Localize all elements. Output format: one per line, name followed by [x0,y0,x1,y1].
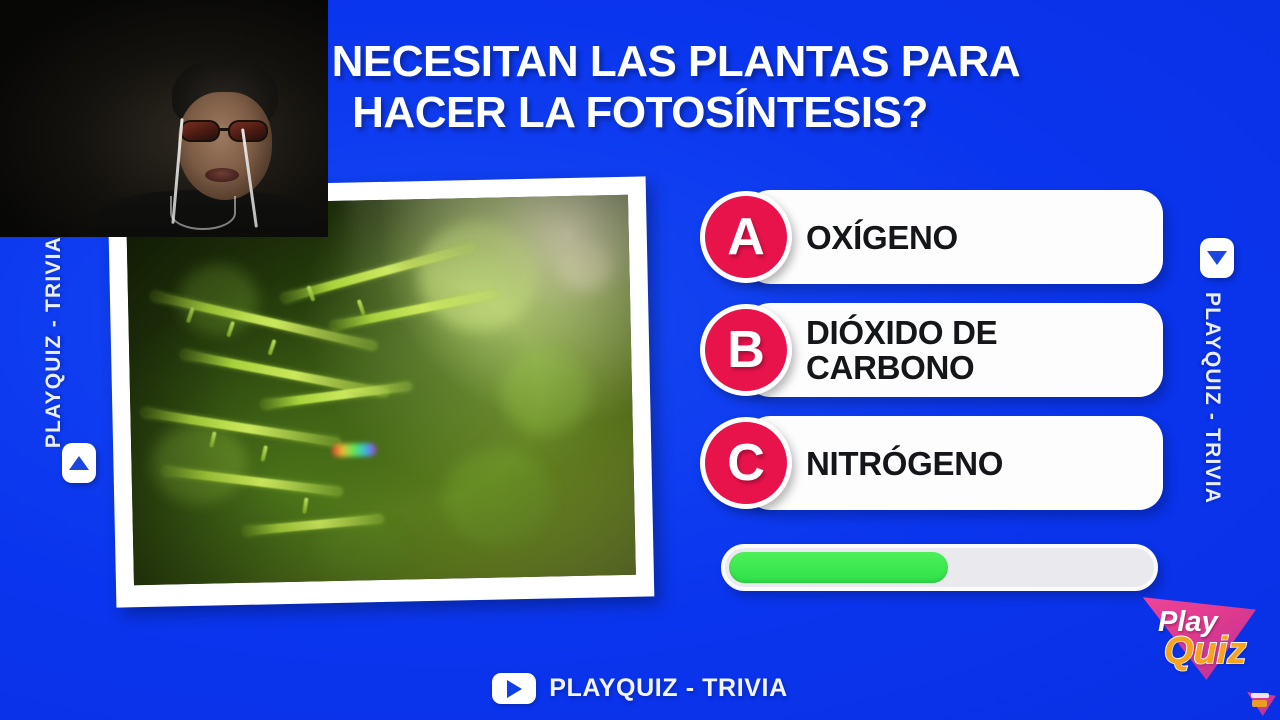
answer-option-c[interactable]: C NITRÓGENO [700,416,1170,510]
playquiz-logo: Play Quiz [1138,592,1256,680]
webcam-face [178,92,272,200]
option-label-b: DIÓXIDO DE CARBONO [806,315,997,385]
play-triangle-icon [507,680,522,698]
option-letter-badge-c[interactable]: C [700,417,792,509]
watermark-word-quiz [1252,700,1267,707]
channel-bar: PLAYQUIZ - TRIVIA [0,673,1280,704]
countdown-progress-bar [721,544,1158,591]
webcam-mouth [205,168,239,182]
side-branding-left-text: PLAYQUIZ - TRIVIA [42,236,66,448]
side-branding-right-text: PLAYQUIZ - TRIVIA [1200,292,1224,504]
answer-option-b[interactable]: B DIÓXIDO DE CARBONO [700,303,1170,397]
logo-word-quiz: Quiz [1164,630,1246,673]
necklace-chain [170,196,236,230]
quiz-slide: AS NECESITAN LAS PLANTAS PARA HACER LA F… [0,0,1280,720]
triangle-up-icon [69,456,89,470]
countdown-progress-fill [729,552,948,583]
webcam-overlay[interactable] [0,0,328,237]
option-label-a: OXÍGENO [806,220,958,255]
channel-name: PLAYQUIZ - TRIVIA [549,674,787,703]
option-letter-badge-b[interactable]: B [700,304,792,396]
option-label-c: NITRÓGENO [806,446,1003,481]
sunglasses-left-lens [180,120,220,142]
sunglasses-icon [180,120,268,144]
question-photo-frame [108,176,655,607]
like-button[interactable] [62,443,96,483]
option-letter-badge-a[interactable]: A [700,191,792,283]
watermark-word-play [1251,693,1269,698]
sunglasses-right-lens [228,120,268,142]
answer-options: A OXÍGENO B DIÓXIDO DE CARBONO C NITRÓGE… [700,190,1170,529]
youtube-play-icon [492,673,536,704]
triangle-down-icon [1207,251,1227,265]
photo-vignette [126,195,636,585]
playquiz-logo-watermark [1246,690,1276,716]
answer-option-a[interactable]: A OXÍGENO [700,190,1170,284]
question-photo [126,195,636,585]
dislike-button[interactable] [1200,238,1234,278]
